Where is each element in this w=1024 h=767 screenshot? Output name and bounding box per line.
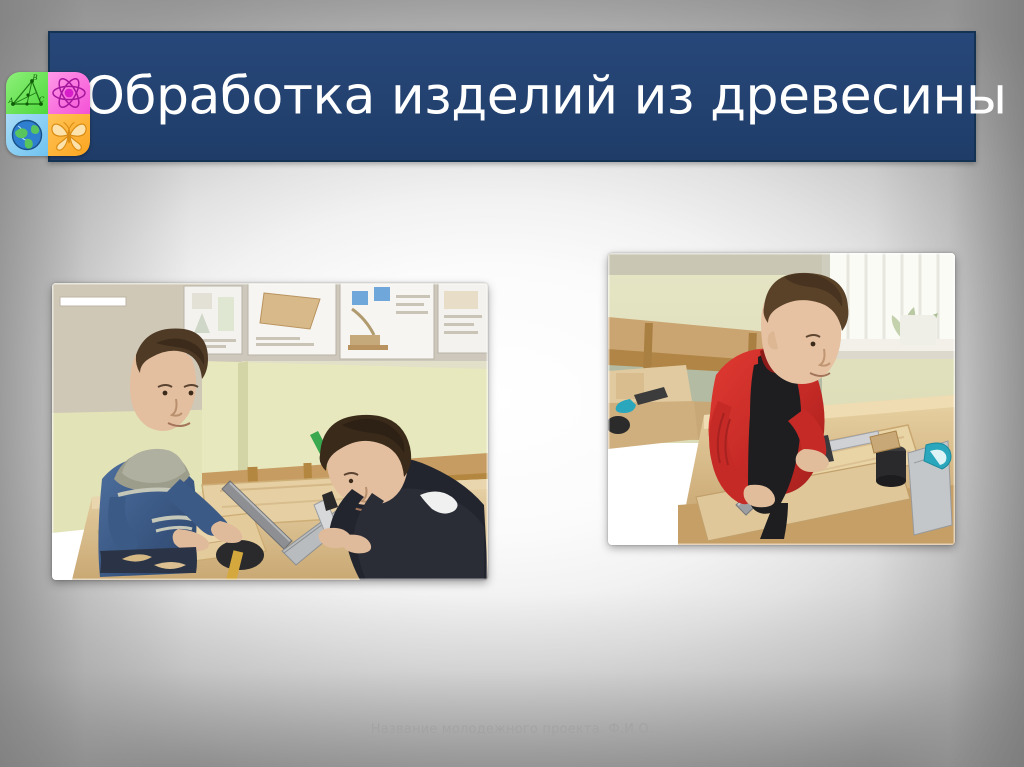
- svg-text:A: A: [8, 97, 14, 105]
- school-subjects-logo[interactable]: A B C: [6, 72, 90, 156]
- logo-cell-biology: [48, 114, 90, 156]
- butterfly-icon: [49, 116, 89, 154]
- geometry-triangle-icon: A B C: [7, 73, 47, 113]
- globe-icon: [8, 116, 46, 154]
- svg-text:B: B: [32, 74, 38, 82]
- logo-cell-physics: [48, 72, 90, 114]
- photo-right-image: [608, 253, 955, 545]
- footer-project-caption: Название молодежного проекта. Ф.И.О.: [0, 722, 1024, 737]
- photo-woodworking-student-red-sweater[interactable]: [608, 253, 955, 545]
- title-banner: Обработка изделий из древесины: [48, 31, 976, 162]
- logo-cell-geography: [6, 114, 48, 156]
- background-vignette-bottom: [0, 592, 1024, 767]
- photo-left-image: [52, 283, 488, 580]
- svg-text:C: C: [39, 96, 45, 104]
- page-title: Обработка изделий из древесины: [50, 69, 974, 124]
- photo-woodworking-two-students[interactable]: [52, 283, 488, 580]
- logo-cell-geometry: A B C: [6, 72, 48, 114]
- atom-icon: [50, 74, 88, 112]
- slide-canvas: Обработка изделий из древесины A B C: [0, 0, 1024, 767]
